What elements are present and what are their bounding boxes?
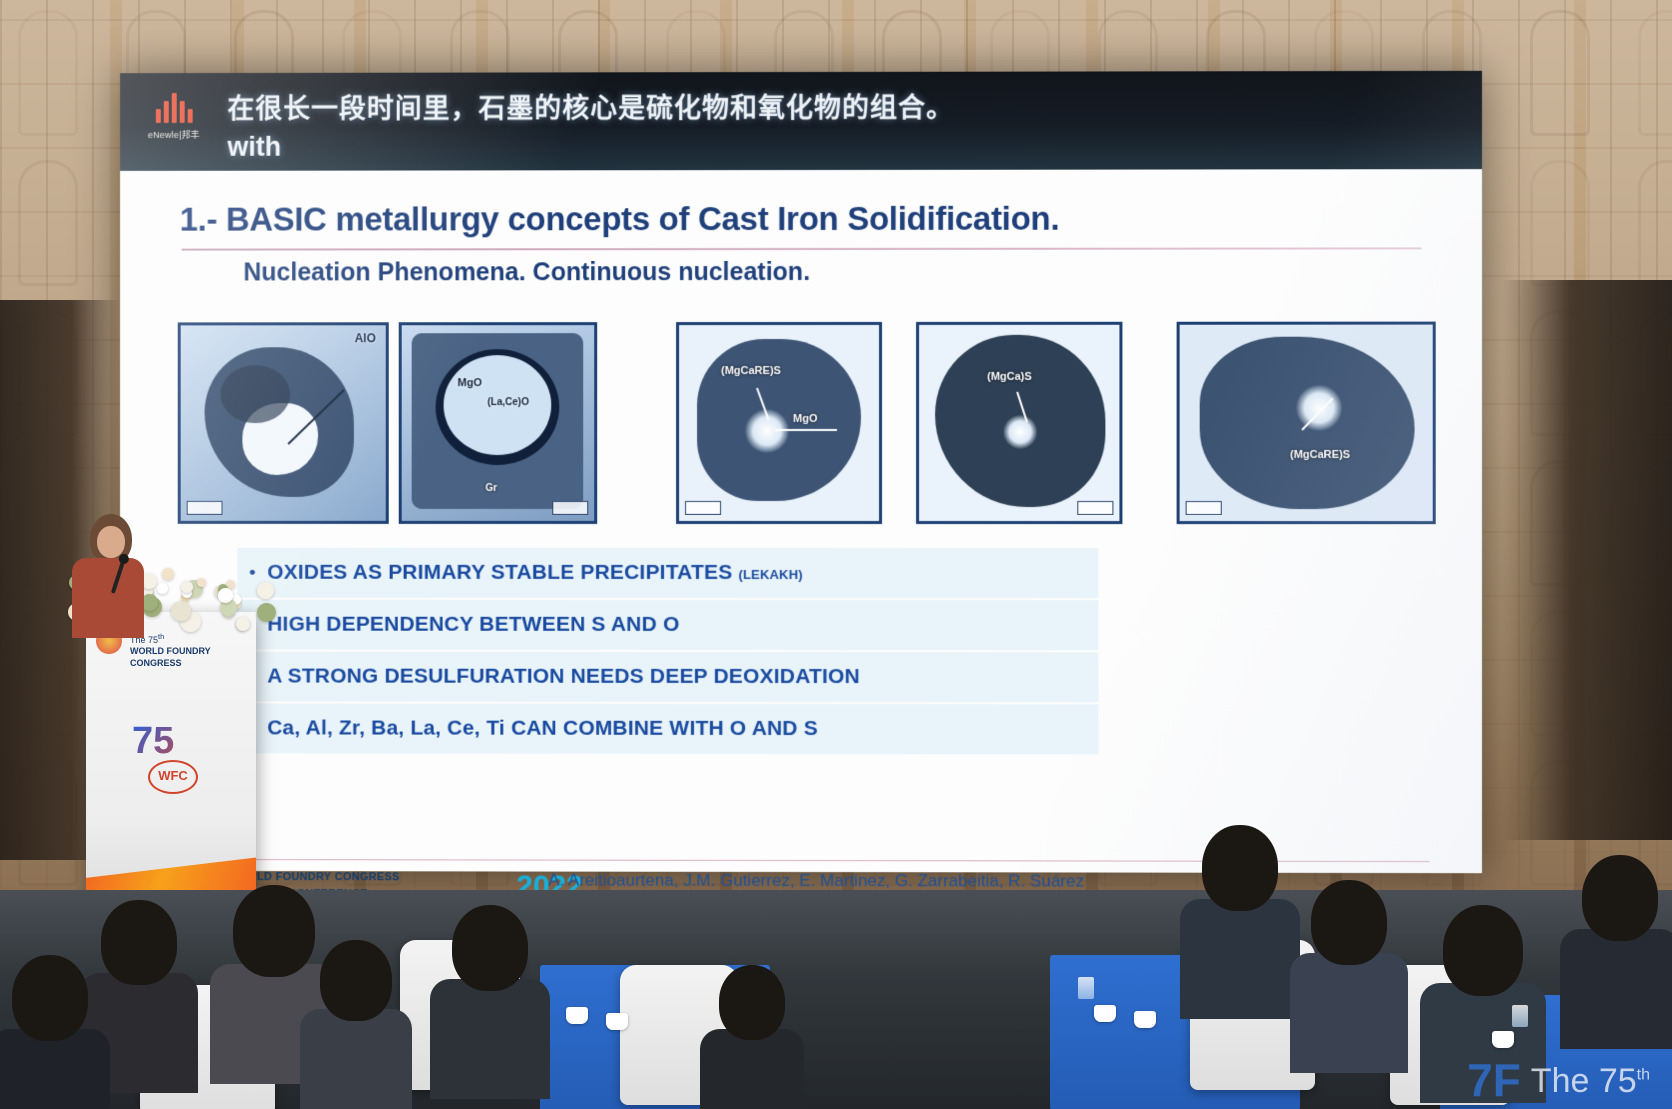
slide-header-bar: eNewle|邦丰 在很长一段时间里，石墨的核心是硫化物和氧化物的组合。 wit…: [120, 71, 1482, 171]
watermark-mark: 7F: [1467, 1060, 1521, 1101]
flower: [257, 582, 274, 599]
flower: [197, 578, 206, 587]
audience-shoulders: [1290, 953, 1408, 1073]
micrograph-3-scalebar: [685, 501, 721, 515]
slide-body: 1.- BASIC metallurgy concepts of Cast Ir…: [120, 169, 1482, 873]
bullet-4-text: Ca, Al, Zr, Ba, La, Ce, Ti CAN COMBINE W…: [267, 716, 818, 741]
logo-bars-icon: [155, 93, 192, 123]
bullet-3-text: A STRONG DESULFURATION NEEDS DEEP DEOXID…: [267, 665, 860, 690]
audience-member: [0, 955, 110, 1109]
micrograph-2-label-1: MgO: [458, 377, 482, 389]
micrograph-2-scalebar: [552, 501, 588, 515]
audience-area: [0, 845, 1672, 1109]
flower: [157, 583, 168, 594]
wall-motif: [1638, 160, 1672, 286]
projection-screen: eNewle|邦丰 在很长一段时间里，石墨的核心是硫化物和氧化物的组合。 wit…: [120, 71, 1482, 873]
flower: [162, 568, 174, 580]
micrograph-4-scalebar: [1077, 501, 1113, 515]
audience-head: [1202, 825, 1279, 911]
micrograph-3-label-2: MgO: [793, 413, 817, 425]
table-cup: [566, 1007, 588, 1024]
table-cup: [1094, 1005, 1116, 1022]
audience-head: [101, 900, 177, 985]
wall-motif: [18, 10, 78, 136]
audience-head: [1311, 880, 1387, 965]
micrograph-5-label-1: (MgCaRE)S: [1290, 449, 1350, 461]
audience-head: [719, 965, 786, 1040]
slide-header-line1: 在很长一段时间里，石墨的核心是硫化物和氧化物的组合。: [227, 86, 954, 126]
audience-head: [1443, 905, 1524, 996]
watermark-text: The 75: [1531, 1062, 1637, 1100]
bullet-list: • OXIDES AS PRIMARY STABLE PRECIPITATES …: [237, 548, 1098, 757]
bullet-2-text: HIGH DEPENDENCY BETWEEN S AND O: [267, 613, 679, 637]
slide-subtitle: Nucleation Phenomena. Continuous nucleat…: [243, 258, 810, 287]
audience-member: [1180, 825, 1300, 995]
screenshot-root: eNewle|邦丰 在很长一段时间里，石墨的核心是硫化物和氧化物的组合。 wit…: [0, 0, 1672, 1109]
audience-member: [430, 905, 550, 1075]
table-glass: [1512, 1005, 1528, 1027]
micrograph-2: MgO (La,Ce)O Gr: [399, 322, 597, 524]
micrograph-4-label-1: (MgCa)S: [987, 371, 1032, 383]
audience-head: [320, 940, 392, 1021]
presenter-logo: eNewle|邦丰: [120, 73, 227, 141]
audience-member: [1420, 905, 1546, 1075]
wfc-emblem-icon: 75 WFC: [132, 720, 204, 796]
wall-motif: [1638, 10, 1672, 136]
audience-head: [1582, 855, 1659, 941]
flower: [236, 617, 250, 631]
audience-member: [1560, 855, 1672, 1025]
micrograph-3: (MgCaRE)S MgO: [676, 322, 882, 524]
micrograph-5: (MgCaRE)S: [1177, 322, 1436, 525]
micrograph-row: AlO MgO (La,Ce)O Gr: [178, 322, 1430, 523]
micrograph-2-label-2: (La,Ce)O: [487, 397, 529, 408]
audience-shoulders: [700, 1029, 804, 1109]
slide-title: 1.- BASIC metallurgy concepts of Cast Ir…: [180, 200, 1060, 239]
congress-watermark: 7F The 75th: [1467, 1060, 1650, 1101]
bullet-item-4: • Ca, Al, Zr, Ba, La, Ce, Ti CAN COMBINE…: [237, 703, 1098, 754]
micrograph-4: (MgCa)S: [916, 322, 1122, 524]
logo-text: eNewle|邦丰: [148, 128, 200, 141]
flower: [218, 588, 233, 603]
bullet-item-1: • OXIDES AS PRIMARY STABLE PRECIPITATES …: [237, 548, 1098, 598]
table-cup: [1134, 1011, 1156, 1028]
micrograph-5-scalebar: [1186, 501, 1222, 515]
audience-shoulders: [1560, 929, 1672, 1049]
micrograph-1-scalebar: [187, 501, 223, 515]
watermark-sup: th: [1637, 1067, 1650, 1084]
bullet-item-3: • A STRONG DESULFURATION NEEDS DEEP DEOX…: [237, 652, 1098, 703]
flower: [257, 603, 276, 622]
micrograph-1: AlO: [178, 322, 389, 524]
speaker-body: [72, 558, 144, 638]
bullet-1-note: (LEKAKH): [738, 567, 802, 582]
podium-congress-name: WORLD FOUNDRY CONGRESS: [130, 646, 211, 667]
title-divider: [182, 247, 1422, 250]
micrograph-2-label-3: Gr: [485, 483, 497, 494]
table-cup: [1492, 1031, 1514, 1048]
micrograph-1-label-1: AlO: [355, 331, 376, 345]
audience-shoulders: [300, 1009, 412, 1109]
audience-member: [1290, 880, 1408, 1050]
audience-shoulders: [1180, 899, 1300, 1019]
audience-shoulders: [0, 1029, 110, 1109]
bullet-item-2: • HIGH DEPENDENCY BETWEEN S AND O: [237, 600, 1098, 651]
wall-motif: [1530, 10, 1590, 136]
speaker-presenter: [72, 514, 142, 624]
wall-shadow-right: [1502, 280, 1672, 840]
audience-head: [452, 905, 529, 991]
slide-header-text: 在很长一段时间里，石墨的核心是硫化物和氧化物的组合。 with: [227, 72, 954, 163]
wall-motif: [18, 160, 78, 286]
podium-banner-text: The 75th WORLD FOUNDRY CONGRESS: [130, 632, 256, 669]
bullet-1-text: OXIDES AS PRIMARY STABLE PRECIPITATES: [267, 561, 732, 584]
audience-head: [12, 955, 89, 1041]
flower: [181, 581, 193, 593]
flower: [171, 601, 191, 621]
audience-shoulders: [430, 979, 550, 1099]
table-cup: [606, 1013, 628, 1030]
slide-header-line2: with: [227, 131, 954, 163]
audience-member: [700, 965, 804, 1109]
micrograph-3-label-1: (MgCaRE)S: [721, 365, 781, 377]
wall-motif: [1530, 160, 1590, 286]
audience-member: [300, 940, 412, 1109]
table-glass: [1078, 977, 1094, 999]
